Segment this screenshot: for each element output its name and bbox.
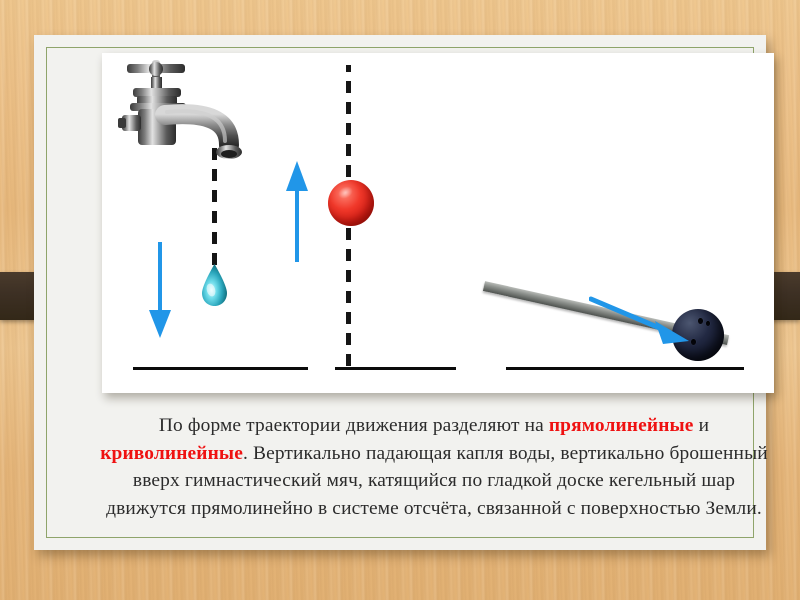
arrow-down-right-icon xyxy=(589,296,697,350)
ground-line-drop xyxy=(133,367,308,370)
ground-line-ball xyxy=(335,367,456,370)
faucet-icon xyxy=(113,59,248,164)
caption-segment-1: По форме траектории движения разделяют н… xyxy=(159,415,549,436)
bowling-hole xyxy=(706,321,710,326)
water-drop-icon xyxy=(200,263,229,307)
caption-segment-2: и xyxy=(694,415,710,436)
slide-card: По форме траектории движения разделяют н… xyxy=(34,35,766,550)
arrow-down-icon xyxy=(148,242,172,340)
caption-accent-rectilinear: прямолинейные xyxy=(549,415,694,436)
illustration-panel xyxy=(102,53,774,393)
red-ball-icon xyxy=(328,180,374,226)
arrow-up-icon xyxy=(285,159,309,262)
ground-line-bowling xyxy=(506,367,744,370)
caption-accent-curvilinear: криволинейные xyxy=(100,443,243,464)
bowling-hole xyxy=(698,318,703,324)
slide-caption: По форме траектории движения разделяют н… xyxy=(96,412,772,522)
